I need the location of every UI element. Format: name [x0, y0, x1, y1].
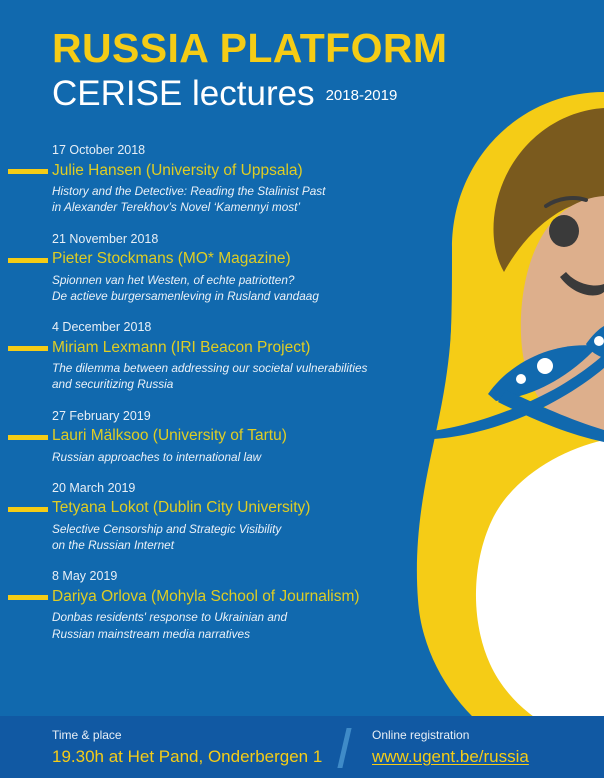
doll-stem	[498, 390, 604, 442]
dash-marker-icon	[8, 435, 48, 440]
registration-link[interactable]: www.ugent.be/russia	[372, 748, 529, 765]
time-place-value: 19.30h at Het Pand, Onderbergen 1	[52, 748, 322, 765]
subtitle-row: CERISE lectures 2018-2019	[52, 76, 472, 111]
dash-marker-icon	[8, 507, 48, 512]
dash-marker-icon	[8, 346, 48, 351]
lecture-date: 8 May 2019	[52, 570, 420, 583]
list-item: 27 February 2019 Lauri Mälksoo (Universi…	[0, 410, 420, 465]
lecture-date: 4 December 2018	[52, 321, 420, 334]
poster-footer: Time & place 19.30h at Het Pand, Onderbe…	[0, 716, 604, 778]
time-place-label: Time & place	[52, 729, 322, 741]
registration-label: Online registration	[372, 729, 529, 741]
lecture-description-line: on the Russian Internet	[52, 537, 420, 553]
doll-leaf-left	[488, 345, 598, 401]
list-item: 8 May 2019 Dariya Orlova (Mohyla School …	[0, 570, 420, 642]
doll-shoulder-shape	[417, 300, 604, 778]
registration-block: Online registration www.ugent.be/russia	[372, 729, 529, 765]
lecture-description-line: Russian mainstream media narratives	[52, 626, 420, 642]
list-item: 17 October 2018 Julie Hansen (University…	[0, 144, 420, 216]
doll-leaf-right	[586, 326, 604, 358]
poster-header: RUSSIA PLATFORM CERISE lectures 2018-201…	[52, 28, 472, 111]
lecture-description-line: The dilemma between addressing our socie…	[52, 360, 420, 376]
lecture-description-line: Selective Censorship and Strategic Visib…	[52, 521, 420, 537]
poster: RUSSIA PLATFORM CERISE lectures 2018-201…	[0, 0, 604, 778]
list-item: 4 December 2018 Miriam Lexmann (IRI Beac…	[0, 321, 420, 393]
lecture-description-line: History and the Detective: Reading the S…	[52, 183, 420, 199]
lecture-description-line: Spionnen van het Westen, of echte patrio…	[52, 272, 420, 288]
doll-hair	[493, 108, 604, 272]
doll-face	[521, 196, 604, 436]
list-item: 20 March 2019 Tetyana Lokot (Dublin City…	[0, 482, 420, 554]
lecture-date: 27 February 2019	[52, 410, 420, 423]
dash-marker-icon	[8, 595, 48, 600]
lecture-description-line: De actieve burgersamenleving in Rusland …	[52, 288, 420, 304]
lecture-description-line: and securitizing Russia	[52, 376, 420, 392]
doll-smile	[560, 272, 604, 295]
dash-marker-icon	[8, 169, 48, 174]
doll-eye	[549, 215, 579, 247]
lecture-description-line: in Alexander Terekhov’s Novel ‘Kamennyi …	[52, 199, 420, 215]
lecture-description-line: Donbas residents' response to Ukrainian …	[52, 609, 420, 625]
lecture-speaker: Dariya Orlova (Mohyla School of Journali…	[52, 589, 420, 605]
doll-leaf-dot	[537, 358, 553, 374]
divider-slash-icon	[337, 728, 351, 768]
list-item: 21 November 2018 Pieter Stockmans (MO* M…	[0, 233, 420, 305]
time-place-block: Time & place 19.30h at Het Pand, Onderbe…	[52, 729, 322, 765]
doll-leaf-dot	[516, 374, 526, 384]
lecture-speaker: Julie Hansen (University of Uppsala)	[52, 163, 420, 179]
lecture-date: 17 October 2018	[52, 144, 420, 157]
dash-marker-icon	[8, 258, 48, 263]
lecture-speaker: Tetyana Lokot (Dublin City University)	[52, 500, 420, 516]
doll-body-shape	[430, 92, 604, 778]
doll-eyebrow	[546, 198, 586, 206]
lecture-speaker: Lauri Mälksoo (University of Tartu)	[52, 428, 420, 444]
doll-scarf-rim	[432, 354, 604, 439]
page-title: RUSSIA PLATFORM	[52, 28, 472, 69]
page-subtitle: CERISE lectures	[52, 76, 315, 111]
doll-apron	[476, 440, 604, 748]
lecture-description-line: Russian approaches to international law	[52, 449, 420, 465]
lecture-speaker: Pieter Stockmans (MO* Magazine)	[52, 251, 420, 267]
lecture-speaker: Miriam Lexmann (IRI Beacon Project)	[52, 340, 420, 356]
lecture-date: 21 November 2018	[52, 233, 420, 246]
lecture-list: 17 October 2018 Julie Hansen (University…	[0, 144, 420, 659]
academic-year-label: 2018-2019	[326, 87, 398, 104]
doll-leaf-dot	[594, 336, 604, 346]
lecture-date: 20 March 2019	[52, 482, 420, 495]
